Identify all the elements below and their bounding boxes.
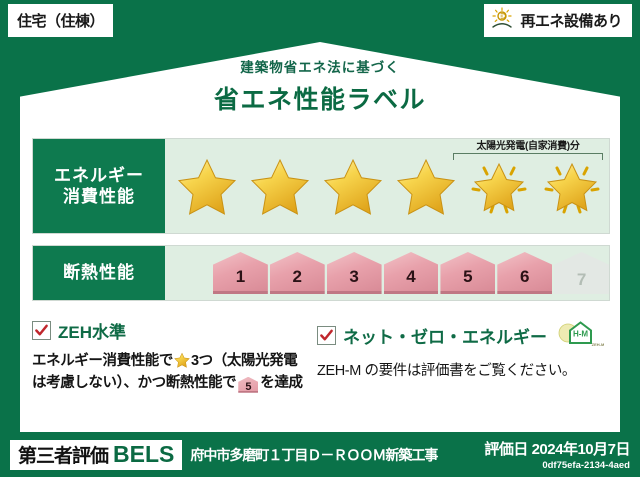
check-icon	[319, 328, 334, 343]
page-subtitle: 建築物省エネ法に基づく	[0, 56, 640, 76]
insulation-level-badge: 2	[270, 252, 325, 294]
insulation-performance-row: 断熱性能 1 2 3 4 5 6 7	[32, 245, 610, 301]
bels-name-label: BELS	[113, 441, 174, 468]
solar-sun-icon	[490, 7, 514, 34]
star-rating	[165, 139, 609, 233]
net-zero-title: ネット・ゼロ・エネルギー	[343, 323, 547, 348]
star-item	[244, 156, 315, 216]
energy-performance-label: 住宅（住棟） 再エネ設備あり 建築物省	[0, 0, 640, 477]
renewable-badge-label: 再エネ設備あり	[520, 10, 622, 31]
category-badge: 住宅（住棟）	[8, 4, 113, 37]
footer-bar: 第三者評価 BELS 府中市多磨町１丁目Ｄ－ＲＯＯＭ新築工事 評価日 2024年…	[0, 432, 640, 477]
insulation-level-badge: 1	[213, 252, 268, 294]
zeh-standard-description: エネルギー消費性能で 3つ（太陽光発電 は考慮しない）、かつ断熱性能で5を達成	[32, 351, 303, 395]
inline-star-icon	[174, 352, 190, 368]
insulation-level-badge: 6	[497, 252, 552, 294]
energy-performance-body: 太陽光発電(自家消費)分	[165, 139, 609, 233]
page-main-title: 省エネ性能ラベル	[0, 80, 640, 116]
insulation-level-badge: 4	[384, 252, 439, 294]
bels-prefix-label: 第三者評価	[18, 441, 108, 468]
insulation-performance-body: 1 2 3 4 5 6 7	[165, 246, 609, 300]
svg-text:ZEH-M: ZEH-M	[592, 342, 604, 347]
site-name-label: 府中市多磨町１丁目Ｄ－ＲＯＯＭ新築工事	[190, 445, 484, 465]
zeh-m-logo-icon: H-M ZEH-M	[556, 319, 604, 354]
insulation-level-badge: 3	[327, 252, 382, 294]
insulation-level-scale: 1 2 3 4 5 6 7	[165, 246, 609, 300]
zeh-desc-part3: を達成	[260, 375, 302, 391]
evaluation-date: 評価日 2024年10月7日	[484, 438, 630, 459]
star-item	[171, 156, 242, 216]
zeh-standard-title: ZEH水準	[58, 318, 126, 343]
zeh-desc-star-count: 3つ（太陽光発電	[191, 353, 297, 369]
check-icon	[34, 323, 49, 338]
insulation-level-badge-inactive: 7	[554, 252, 609, 294]
zeh-checkbox[interactable]	[32, 321, 51, 340]
insulation-level-badge: 5	[440, 252, 495, 294]
zeh-desc-part1: エネルギー消費性能で	[32, 353, 173, 369]
zeh-desc-part2: は考慮しない）、かつ断熱性能で	[32, 375, 236, 391]
energy-performance-row: エネルギー 消費性能	[32, 138, 610, 234]
net-zero-header: ネット・ゼロ・エネルギー H-M ZEH-M	[317, 318, 604, 353]
bels-badge: 第三者評価 BELS	[10, 440, 182, 470]
net-zero-checkbox[interactable]	[317, 326, 336, 345]
zeh-standard-block: ZEH水準 エネルギー消費性能で 3つ（太陽光発電 は考慮しない）、かつ断熱性能…	[32, 318, 309, 410]
energy-performance-label: エネルギー 消費性能	[33, 139, 165, 233]
svg-text:H-M: H-M	[573, 330, 588, 339]
net-zero-description: ZEH-M の要件は評価書をご覧ください。	[317, 361, 604, 383]
star-item-solar	[536, 156, 607, 216]
star-item-solar	[463, 156, 534, 216]
category-badge-label: 住宅（住棟）	[17, 10, 104, 31]
evaluation-id: 0df75efa-2134-4aed	[484, 460, 630, 471]
page-title: 建築物省エネ法に基づく 省エネ性能ラベル	[0, 56, 640, 116]
star-item	[390, 156, 461, 216]
certification-section: ZEH水準 エネルギー消費性能で 3つ（太陽光発電 は考慮しない）、かつ断熱性能…	[32, 318, 610, 410]
insulation-performance-label: 断熱性能	[33, 246, 165, 300]
inline-insulation-badge: 5	[238, 377, 258, 393]
star-item	[317, 156, 388, 216]
renewable-equipment-badge: 再エネ設備あり	[484, 4, 632, 37]
net-zero-energy-block: ネット・ゼロ・エネルギー H-M ZEH-M ZEH-M の要件は評価書をご覧く…	[309, 318, 610, 410]
evaluation-info: 評価日 2024年10月7日 0df75efa-2134-4aed	[484, 438, 630, 471]
zeh-standard-header: ZEH水準	[32, 318, 303, 343]
